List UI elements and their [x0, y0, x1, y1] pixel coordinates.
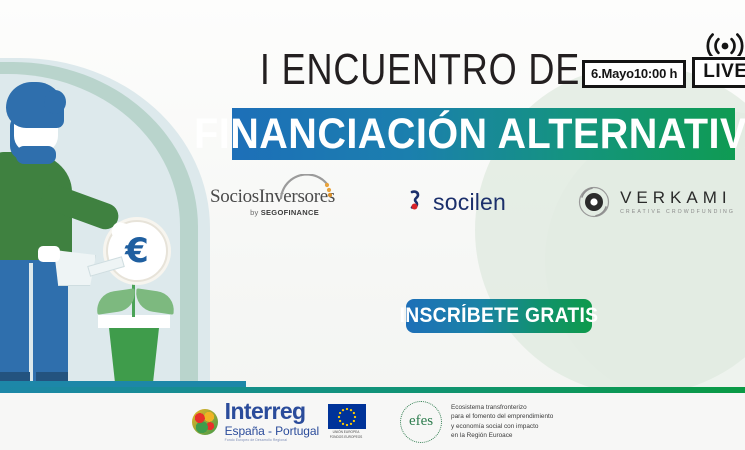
interreg-region: España - Portugal — [225, 425, 319, 437]
efes-description-line: Ecosistema transfronterizo — [451, 403, 553, 412]
logo-interreg[interactable]: Interreg España - Portugal Fondo Europeo… — [192, 400, 366, 442]
eu-label-line1: UNIÓN EUROPEA — [333, 430, 360, 434]
person-leg-gap — [29, 263, 33, 381]
eu-emblem: UNIÓN EUROPEA FONDOS EUROPEOS — [326, 404, 366, 439]
efes-mark-icon: efes — [400, 401, 442, 443]
byline-brand: SEGOFINANCE — [261, 208, 319, 217]
logo-sociosinversores[interactable]: SociosInversores by SEGOFINANCE — [210, 187, 335, 217]
event-title-band: FINANCIACIÓN ALTERNATIVA — [232, 108, 735, 160]
logo-sociosinversores-byline: by SEGOFINANCE — [250, 208, 319, 217]
event-title-line1: I ENCUENTRO DE — [260, 48, 514, 92]
event-schedule-badge: 6.Mayo10:00 h LIVE — [582, 30, 745, 88]
socilen-mark-icon — [405, 189, 427, 215]
person-shoe-left — [0, 372, 30, 381]
logo-verkami-tagline: CREATIVE CROWDFUNDING — [620, 209, 735, 215]
sponsor-logo-row: SociosInversores by SEGOFINANCE socilen — [210, 176, 735, 228]
person-scarf — [16, 146, 56, 164]
live-badge: LIVE — [692, 30, 745, 88]
interreg-mark-icon — [192, 409, 218, 435]
efes-description-line: para el fomento del emprendimiento — [451, 412, 553, 421]
logo-efes[interactable]: efes Ecosistema transfronterizo para el … — [400, 401, 553, 443]
interreg-name: Interreg — [225, 400, 319, 423]
interreg-fine-print: Fondo Europeo de Desarrollo Regional — [225, 439, 319, 442]
eu-stars-icon — [336, 406, 358, 428]
person-shoe-right — [36, 372, 68, 381]
person-hair-bun — [44, 90, 66, 114]
verkami-mark-icon — [576, 185, 612, 219]
register-button[interactable]: INSCRÍBETE GRATIS — [406, 299, 592, 333]
event-title-line2: FINANCIACIÓN ALTERNATIVA — [194, 110, 745, 159]
footer-logos: Interreg España - Portugal Fondo Europeo… — [0, 393, 745, 450]
person-cuff — [38, 246, 60, 262]
logo-socilen[interactable]: socilen — [405, 189, 506, 216]
efes-description-line: en la Región Euroace — [451, 431, 553, 440]
efes-description: Ecosistema transfronterizo para el fomen… — [451, 403, 553, 440]
logo-socilen-name: socilen — [433, 189, 506, 216]
eu-label-line2: FONDOS EUROPEOS — [330, 435, 363, 439]
arc-dots-icon — [277, 174, 337, 200]
register-button-label: INSCRÍBETE GRATIS — [400, 304, 599, 328]
eu-flag-icon — [328, 404, 366, 429]
broadcast-signal-icon — [703, 30, 745, 56]
byline-prefix: by — [250, 208, 261, 217]
event-date-time: 6.Mayo10:00 h — [582, 60, 686, 88]
promo-banner: € I ENCUENTRO DE FINANCIACIÓN ALTERNATIV… — [0, 0, 745, 450]
logo-verkami-name: VERKAMI — [620, 189, 735, 206]
live-label: LIVE — [692, 57, 745, 88]
efes-description-line: y economía social con impacto — [451, 422, 553, 431]
logo-verkami[interactable]: VERKAMI CREATIVE CROWDFUNDING — [576, 185, 735, 219]
